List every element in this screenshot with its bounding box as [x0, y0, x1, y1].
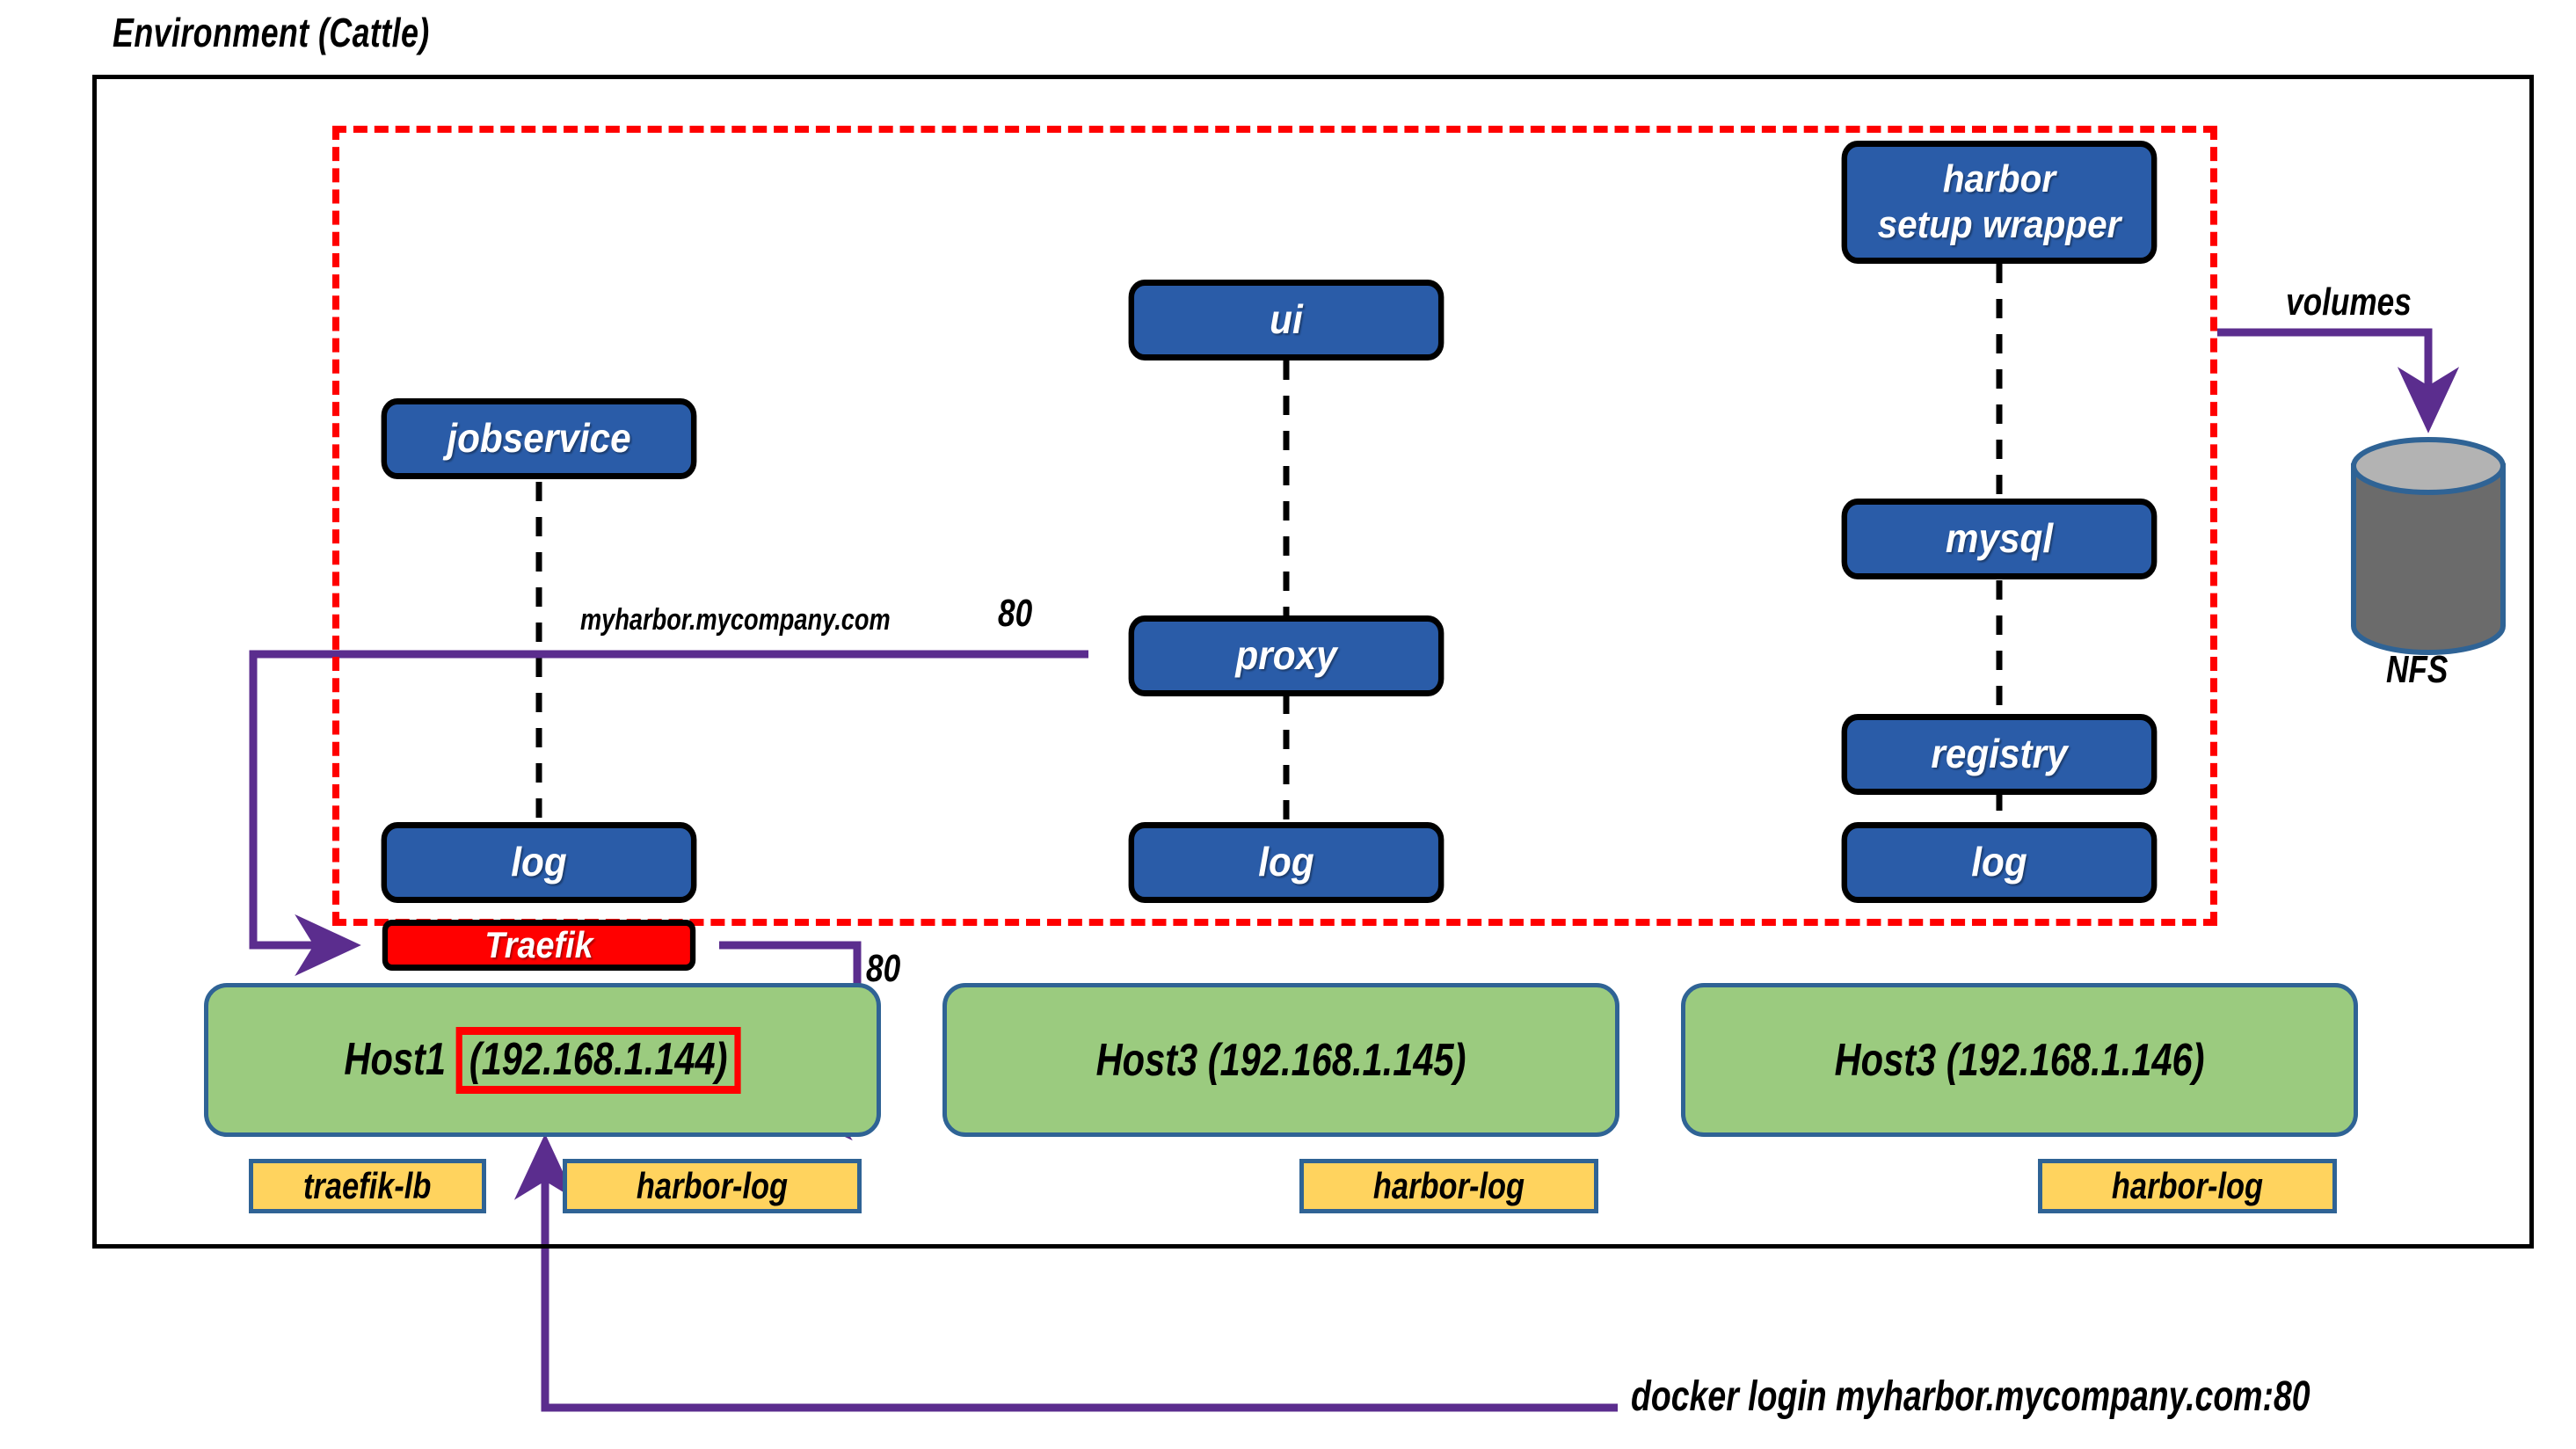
- host-name-3: Host3: [1835, 1035, 1947, 1086]
- service-node-registry[interactable]: registry: [1842, 714, 2158, 795]
- host-tag-label: harbor-log: [637, 1165, 788, 1207]
- host-tag-label: harbor-log: [1373, 1165, 1524, 1207]
- proxy-domain-label: myharbor.mycompany.com: [580, 605, 891, 635]
- host-tag-harbor-log-3[interactable]: harbor-log: [2038, 1159, 2337, 1213]
- host-label-1: Host1 (192.168.1.144): [344, 1027, 740, 1094]
- service-node-label: log: [1971, 841, 2027, 885]
- host-ip-2: (192.168.1.145): [1208, 1035, 1466, 1086]
- service-node-harbor-setup-wrapper[interactable]: harbor setup wrapper: [1842, 141, 2158, 264]
- service-node-label: ui: [1270, 298, 1303, 342]
- host-tag-label: harbor-log: [2112, 1165, 2263, 1207]
- host-box-1[interactable]: Host1 (192.168.1.144): [204, 983, 881, 1137]
- service-node-label-line1: harbor: [1943, 157, 2056, 202]
- service-node-label: registry: [1931, 732, 2067, 776]
- volumes-label: volumes: [2286, 283, 2412, 322]
- service-node-label: Traefik: [484, 924, 593, 966]
- service-node-label: log: [511, 841, 566, 885]
- host-ip-1: (192.168.1.144): [455, 1027, 740, 1094]
- service-node-log-right[interactable]: log: [1842, 822, 2158, 903]
- page-title: Environment (Cattle): [113, 12, 430, 53]
- service-node-mysql[interactable]: mysql: [1842, 499, 2158, 579]
- host-tag-harbor-log-1[interactable]: harbor-log: [563, 1159, 862, 1213]
- host-tag-traefik-lb[interactable]: traefik-lb: [249, 1159, 486, 1213]
- service-node-label: proxy: [1235, 634, 1336, 678]
- service-node-log-mid[interactable]: log: [1129, 822, 1444, 903]
- nfs-label: NFS: [2386, 651, 2448, 689]
- docker-login-command-label: docker login myharbor.mycompany.com:80: [1631, 1376, 2310, 1418]
- traefik-port-label: 80: [866, 950, 900, 988]
- service-node-label-line2: setup wrapper: [1878, 202, 2121, 248]
- host-tag-label: traefik-lb: [303, 1165, 431, 1207]
- proxy-port-label: 80: [998, 594, 1032, 633]
- diagram-canvas: Environment (Cattle) jobservice log ui p…: [0, 0, 2576, 1449]
- service-node-label: log: [1258, 841, 1313, 885]
- host-ip-3: (192.168.1.146): [1947, 1035, 2205, 1086]
- host-label-2: Host3 (192.168.1.145): [1096, 1034, 1466, 1087]
- host-box-2[interactable]: Host3 (192.168.1.145): [942, 983, 1619, 1137]
- host-name-1: Host1: [344, 1034, 455, 1085]
- service-node-label: mysql: [1946, 517, 2053, 561]
- service-node-label: jobservice: [447, 417, 630, 461]
- host-box-3[interactable]: Host3 (192.168.1.146): [1681, 983, 2358, 1137]
- service-node-proxy[interactable]: proxy: [1129, 615, 1444, 696]
- service-node-log-left[interactable]: log: [382, 822, 697, 903]
- host-tag-harbor-log-2[interactable]: harbor-log: [1299, 1159, 1598, 1213]
- service-node-ui[interactable]: ui: [1129, 280, 1444, 360]
- host-label-3: Host3 (192.168.1.146): [1835, 1034, 2205, 1087]
- host-name-2: Host3: [1096, 1035, 1208, 1086]
- service-node-traefik[interactable]: Traefik: [382, 920, 695, 971]
- service-node-jobservice[interactable]: jobservice: [382, 398, 697, 479]
